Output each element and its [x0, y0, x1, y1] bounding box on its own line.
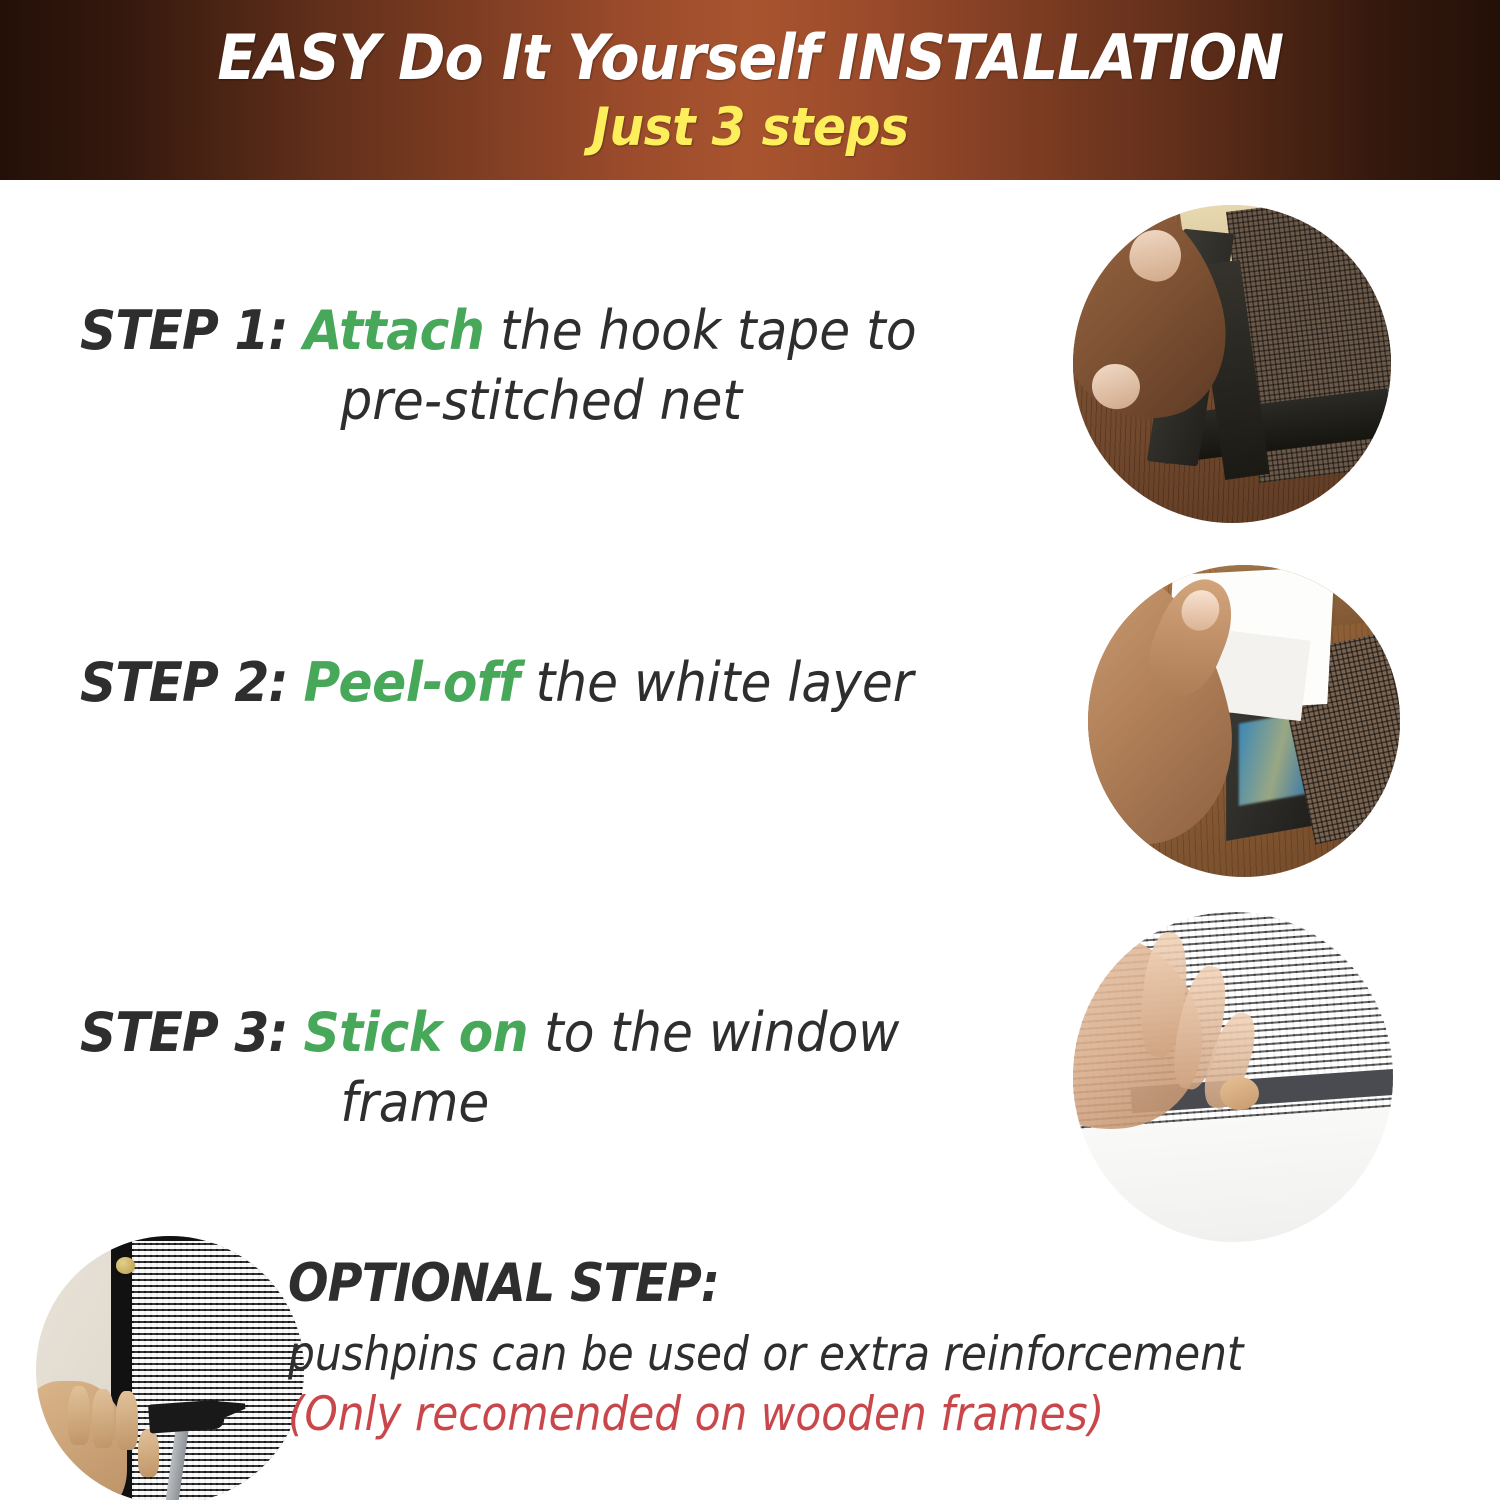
- thumb-tip: [1220, 1077, 1258, 1110]
- step-1-rest-line2: pre-stitched net: [80, 366, 1001, 436]
- step-3-highlight: Stick on: [304, 1001, 529, 1064]
- step-1-rest-line1: the hook tape to: [500, 299, 916, 362]
- banner-title: EASY Do It Yourself INSTALLATION: [217, 27, 1283, 89]
- finger-1: [68, 1386, 89, 1445]
- step-2-photo-scene: [1088, 565, 1400, 877]
- pushpin-top: [116, 1257, 135, 1273]
- step-2-rest-line1: the white layer: [536, 651, 914, 714]
- infographic-page: EASY Do It Yourself INSTALLATION Just 3 …: [0, 0, 1500, 1500]
- optional-step-text-block: OPTIONAL STEP: pushpins can be used or e…: [288, 1255, 1478, 1442]
- step-1-label: STEP 1:: [80, 299, 288, 362]
- step-1-text: STEP 1: Attach the hook tape to pre-stit…: [80, 296, 1001, 436]
- finger-2: [92, 1389, 113, 1448]
- step-1-highlight: Attach: [304, 299, 485, 362]
- step-1-photo: [1073, 205, 1391, 523]
- finger-3: [116, 1391, 137, 1450]
- step-1-row: STEP 1: Attach the hook tape to pre-stit…: [80, 296, 1070, 436]
- optional-step-photo-scene: [36, 1236, 304, 1500]
- step-2-label: STEP 2:: [80, 651, 288, 714]
- optional-step-title: OPTIONAL STEP:: [288, 1255, 1359, 1313]
- step-2-photo: [1088, 565, 1400, 877]
- step-2-highlight: Peel-off: [304, 651, 520, 714]
- step-1-photo-scene: [1073, 205, 1391, 523]
- step-3-rest-line2: frame: [80, 1068, 1001, 1138]
- step-2-row: STEP 2: Peel-off the white layer: [80, 648, 1070, 718]
- optional-step-photo: [36, 1236, 304, 1500]
- step-3-rest-line1: to the window: [544, 1001, 899, 1064]
- step-3-photo-scene: [1073, 912, 1393, 1242]
- step-3-photo: [1073, 912, 1393, 1242]
- header-banner: EASY Do It Yourself INSTALLATION Just 3 …: [0, 0, 1500, 180]
- step-3-text: STEP 3: Stick on to the window frame: [80, 998, 1001, 1138]
- banner-subtitle: Just 3 steps: [592, 101, 909, 154]
- finger-4: [138, 1429, 159, 1477]
- step-2-text: STEP 2: Peel-off the white layer: [80, 648, 1001, 718]
- optional-step-line-2: (Only recomended on wooden frames): [288, 1387, 1359, 1442]
- step-3-row: STEP 3: Stick on to the window frame: [80, 998, 1070, 1138]
- step-3-label: STEP 3:: [80, 1001, 288, 1064]
- optional-step-line-1: pushpins can be used or extra reinforcem…: [288, 1327, 1359, 1382]
